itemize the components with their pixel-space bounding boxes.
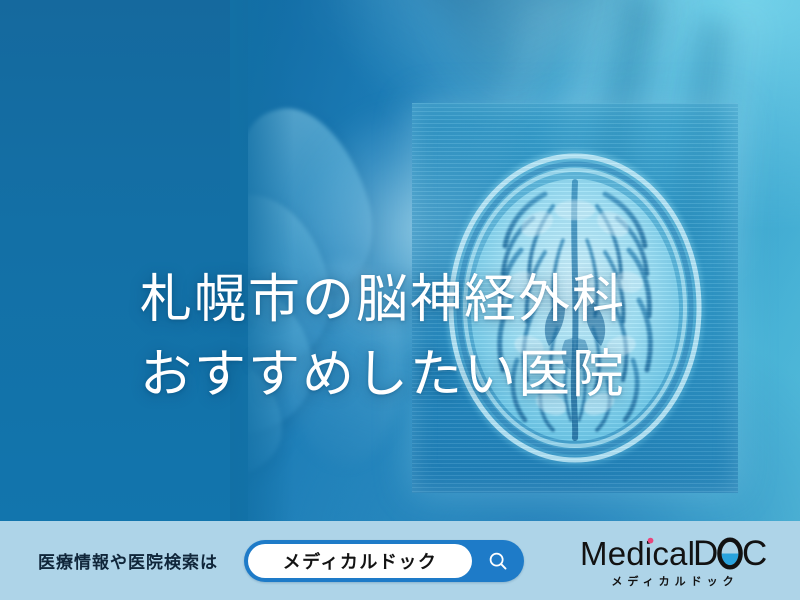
medical-doc-wordmark-svg: Medical D C [580, 534, 766, 574]
brand-capsule-o [719, 539, 740, 567]
left-color-block [0, 0, 248, 521]
brand-text-medical: Medical [580, 535, 695, 572]
brand-subtitle: メディカルドック [580, 577, 766, 588]
brand-accent-dot [648, 537, 654, 543]
search-bar[interactable]: メディカルドック [244, 540, 524, 582]
search-icon [487, 550, 509, 572]
search-button[interactable] [472, 550, 524, 572]
footer-bar: 医療情報や医院検索は メディカルドック Medical [0, 521, 800, 600]
title-line-1: 札幌市の脳神経外科 [140, 263, 626, 338]
search-input-value: メディカルドック [283, 548, 438, 574]
brand-wordmark: Medical D C [580, 534, 766, 574]
title-line-2: おすすめしたい医院 [140, 338, 626, 413]
brand-logo[interactable]: Medical D C メディカルドック [580, 534, 766, 588]
search-input[interactable]: メディカルドック [248, 544, 472, 578]
page-title: 札幌市の脳神経外科 おすすめしたい医院 [140, 263, 626, 413]
footer-lead-text: 医療情報や医院検索は [38, 548, 218, 573]
brand-text-c: C [742, 534, 766, 573]
brand-text-d: D [693, 534, 719, 573]
hero-banner: 札幌市の脳神経外科 おすすめしたい医院 医療情報や医院検索は メディカルドック … [0, 0, 800, 600]
